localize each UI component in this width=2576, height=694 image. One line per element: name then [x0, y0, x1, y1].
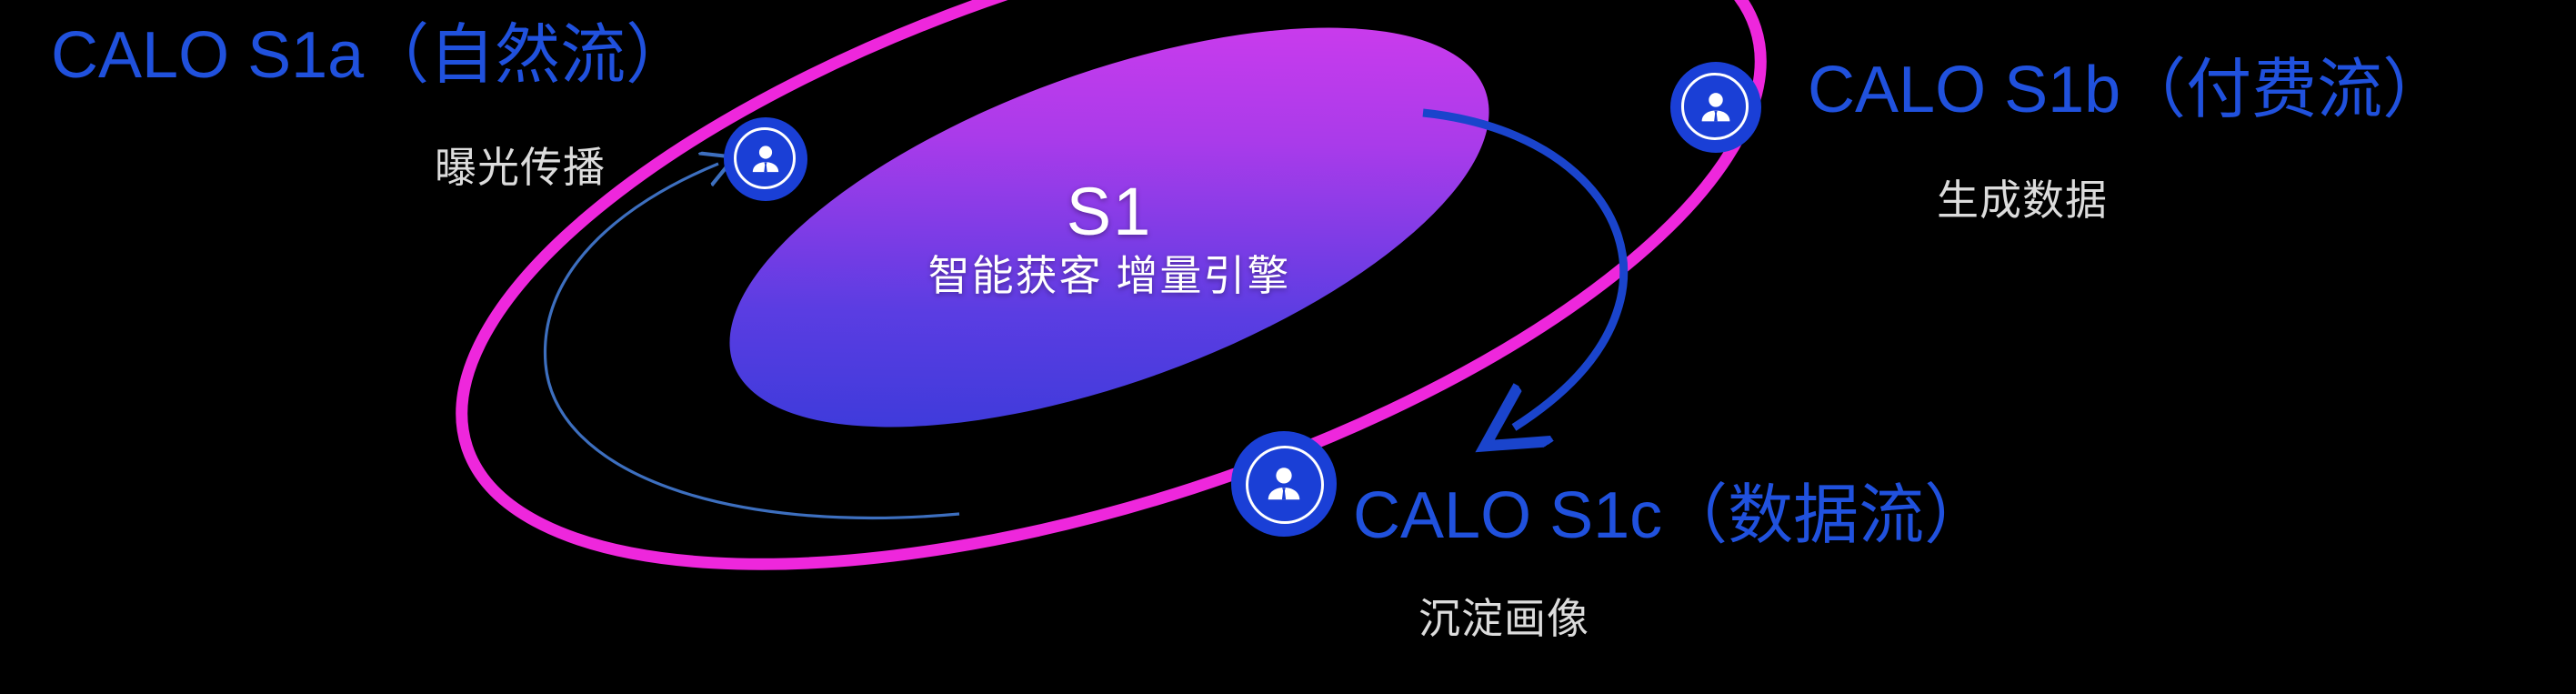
label-subtitle-s1a: 曝光传播 [435, 146, 606, 189]
label-subtitle-s1b: 生成数据 [1937, 178, 2108, 222]
node-badge-s1b[interactable] [1670, 62, 1761, 153]
label-title-s1b: CALO S1b（付费流） [1808, 56, 2448, 126]
person-badge-icon [1693, 85, 1739, 130]
label-subtitle-s1c: 沉淀画像 [1418, 597, 1589, 640]
label-title-s1c: CALO S1c（数据流） [1353, 482, 1990, 551]
node-badge-s1c[interactable] [1231, 431, 1337, 537]
person-badge-icon [1258, 458, 1309, 509]
label-title-s1a: CALO S1a（自然流） [51, 22, 691, 91]
diagram-canvas: S1 智能获客 增量引擎 CALO S1a（自然流） 曝光传播 CALO S1b [0, 0, 2576, 694]
person-badge-icon [745, 138, 787, 180]
node-badge-s1a[interactable] [724, 117, 807, 201]
